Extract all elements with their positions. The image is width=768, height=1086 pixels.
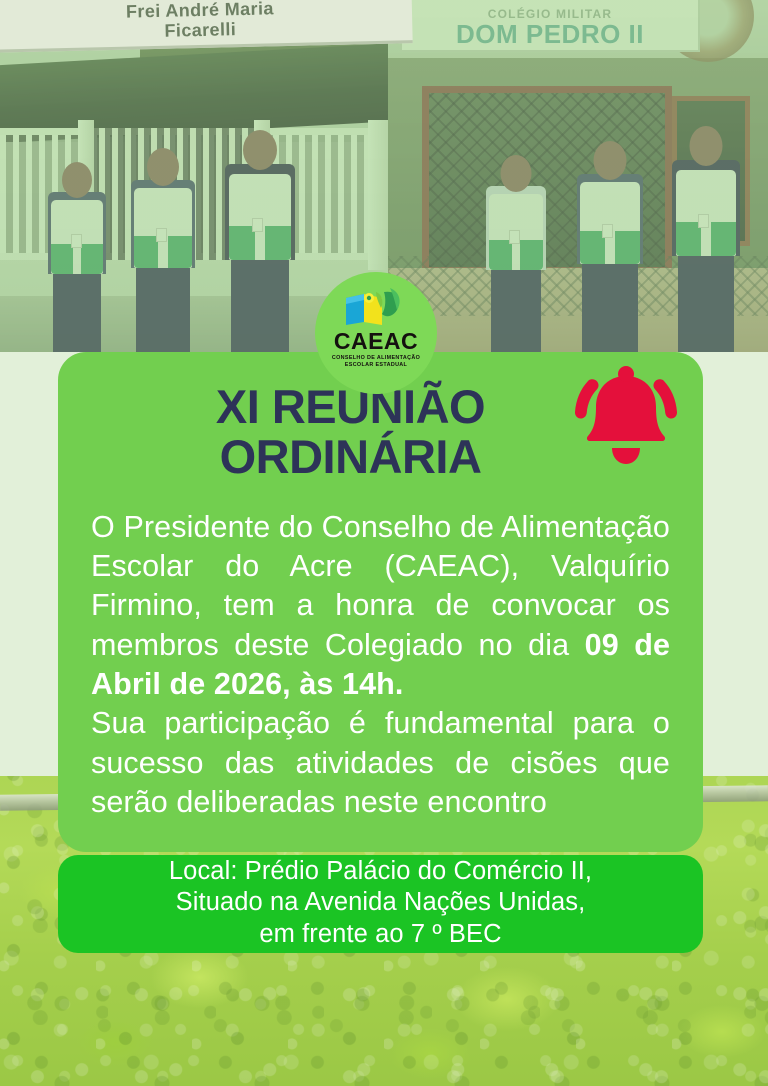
announcement-card: XI REUNIÃO ORDINÁRIA O Presidente do Con…	[58, 352, 703, 852]
caeac-logo-badge: CAEAC CONSELHO DE ALIMENTAÇÃO ESCOLAR ES…	[315, 272, 437, 394]
caeac-logo-subtitle-line1: CONSELHO DE ALIMENTAÇÃO	[332, 355, 420, 362]
person-legs	[491, 258, 541, 352]
announcement-body: O Presidente do Conselho de Alimentação …	[86, 508, 675, 823]
caeac-logo-subtitle-line2: ESCOLAR ESTADUAL	[345, 362, 407, 369]
photo-left-sign-line1: Frei André Maria	[126, 0, 274, 22]
photo-right-person-2	[564, 120, 656, 352]
poster-canvas: COLÉGIO MILITAR DOM PEDRO II Frei André …	[0, 0, 768, 1086]
person-head	[501, 155, 532, 192]
photo-right-sign-line2: DOM PEDRO II	[456, 21, 644, 47]
person-vest	[580, 182, 640, 264]
caeac-logo-acronym: CAEAC	[334, 330, 418, 353]
person-legs	[136, 256, 190, 352]
location-card: Local: Prédio Palácio do Comércio II, Si…	[58, 855, 703, 953]
person-badge	[509, 230, 520, 244]
person-legs	[231, 248, 289, 352]
person-head	[147, 148, 179, 186]
person-badge	[698, 214, 709, 228]
photo-left-column-3	[368, 120, 388, 270]
photo-right-sign: COLÉGIO MILITAR DOM PEDRO II	[400, 0, 700, 52]
announcement-body-paragraph-2: Sua participação é fundamental para o su…	[91, 704, 670, 822]
announcement-body-intro: O Presidente do Conselho de Alimentação …	[91, 510, 670, 662]
photo-left-sign-line2: Ficarelli	[164, 19, 236, 41]
location-line-3: em frente ao 7 º BEC	[259, 919, 501, 950]
person-badge	[602, 224, 613, 238]
page-title: XI REUNIÃO ORDINÁRIA	[116, 382, 586, 482]
person-badge	[71, 234, 82, 248]
location-line-1: Local: Prédio Palácio do Comércio II,	[169, 856, 592, 887]
person-vest	[229, 174, 291, 260]
person-legs	[582, 252, 638, 352]
person-head	[690, 126, 723, 166]
photo-left-person-2	[120, 126, 206, 352]
person-badge	[252, 218, 263, 232]
photo-left-person-1	[40, 142, 114, 352]
page-title-line2: ORDINÁRIA	[116, 432, 586, 482]
photo-left-person-3	[214, 108, 306, 352]
person-head	[62, 162, 92, 198]
caeac-logo-mark-icon	[340, 284, 412, 328]
person-legs	[678, 246, 734, 352]
person-vest	[676, 170, 736, 256]
photo-right-person-1	[476, 138, 556, 352]
person-badge	[156, 228, 167, 242]
bell-ringing-icon	[571, 362, 681, 470]
announcement-body-closing: Sua participação é fundamental para o su…	[91, 706, 670, 819]
page-title-line1: XI REUNIÃO	[116, 382, 586, 432]
photo-right-person-3	[660, 102, 752, 352]
announcement-body-paragraph-1: O Presidente do Conselho de Alimentação …	[91, 508, 670, 705]
person-legs	[53, 262, 101, 352]
photo-right: COLÉGIO MILITAR DOM PEDRO II	[388, 0, 768, 352]
location-line-2: Situado na Avenida Nações Unidas,	[176, 887, 586, 918]
person-head	[594, 141, 627, 180]
person-head	[243, 130, 277, 170]
